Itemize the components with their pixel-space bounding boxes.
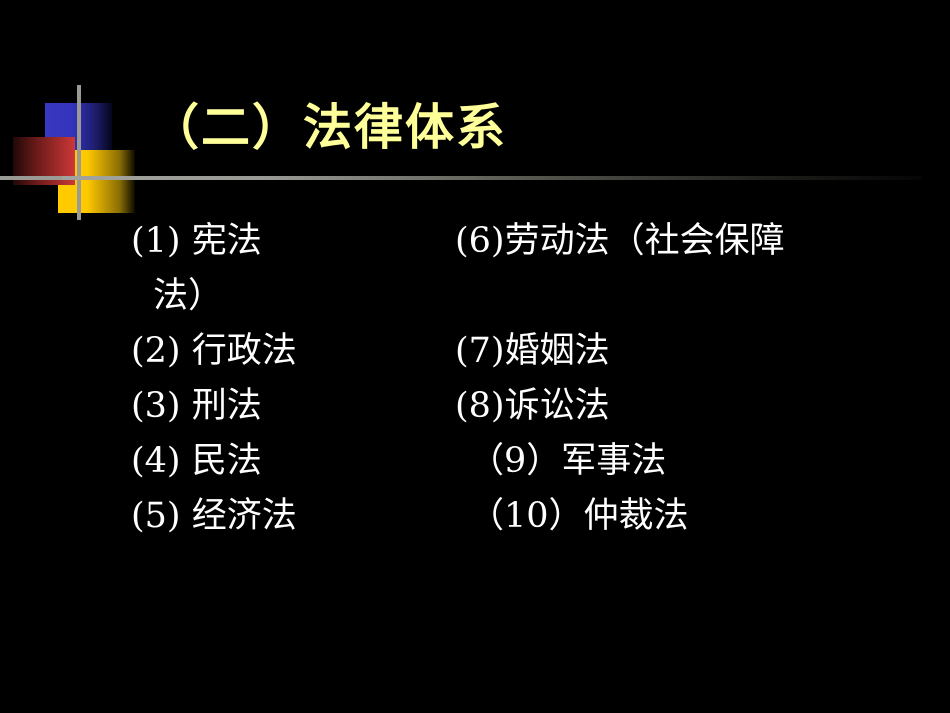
slide-title: （二）法律体系 bbox=[150, 102, 507, 153]
list-item: (6)劳动法（社会保障 bbox=[455, 214, 895, 269]
list-item: (7)婚姻法 bbox=[455, 324, 895, 379]
list-item: (1) 宪法 法） bbox=[131, 214, 451, 324]
list-item: (2) 行政法 bbox=[131, 324, 451, 379]
list-item: （9）军事法 bbox=[455, 434, 895, 489]
list-item: (5) 经济法 bbox=[131, 489, 451, 544]
slide: （二）法律体系 (1) 宪法 法） (2) 行政法 (3) 刑法 (4) 民法 … bbox=[0, 0, 950, 713]
title-divider bbox=[62, 176, 922, 180]
list-item-continuation: 法） bbox=[131, 269, 451, 324]
decorative-logo bbox=[0, 85, 160, 220]
left-list-column: (1) 宪法 法） (2) 行政法 (3) 刑法 (4) 民法 (5) 经济法 bbox=[131, 214, 451, 544]
list-item-label: (1) 宪法 bbox=[131, 221, 262, 261]
slide-body: (1) 宪法 法） (2) 行政法 (3) 刑法 (4) 民法 (5) 经济法 … bbox=[0, 214, 950, 574]
list-item: (4) 民法 bbox=[131, 434, 451, 489]
right-list-column: (6)劳动法（社会保障 (7)婚姻法 (8)诉讼法 （9）军事法 （10）仲裁法 bbox=[455, 214, 895, 544]
list-item-spacer bbox=[455, 269, 895, 324]
list-item: (8)诉讼法 bbox=[455, 379, 895, 434]
list-item: (3) 刑法 bbox=[131, 379, 451, 434]
decorative-vertical-line bbox=[77, 85, 81, 220]
list-item: （10）仲裁法 bbox=[455, 489, 895, 544]
